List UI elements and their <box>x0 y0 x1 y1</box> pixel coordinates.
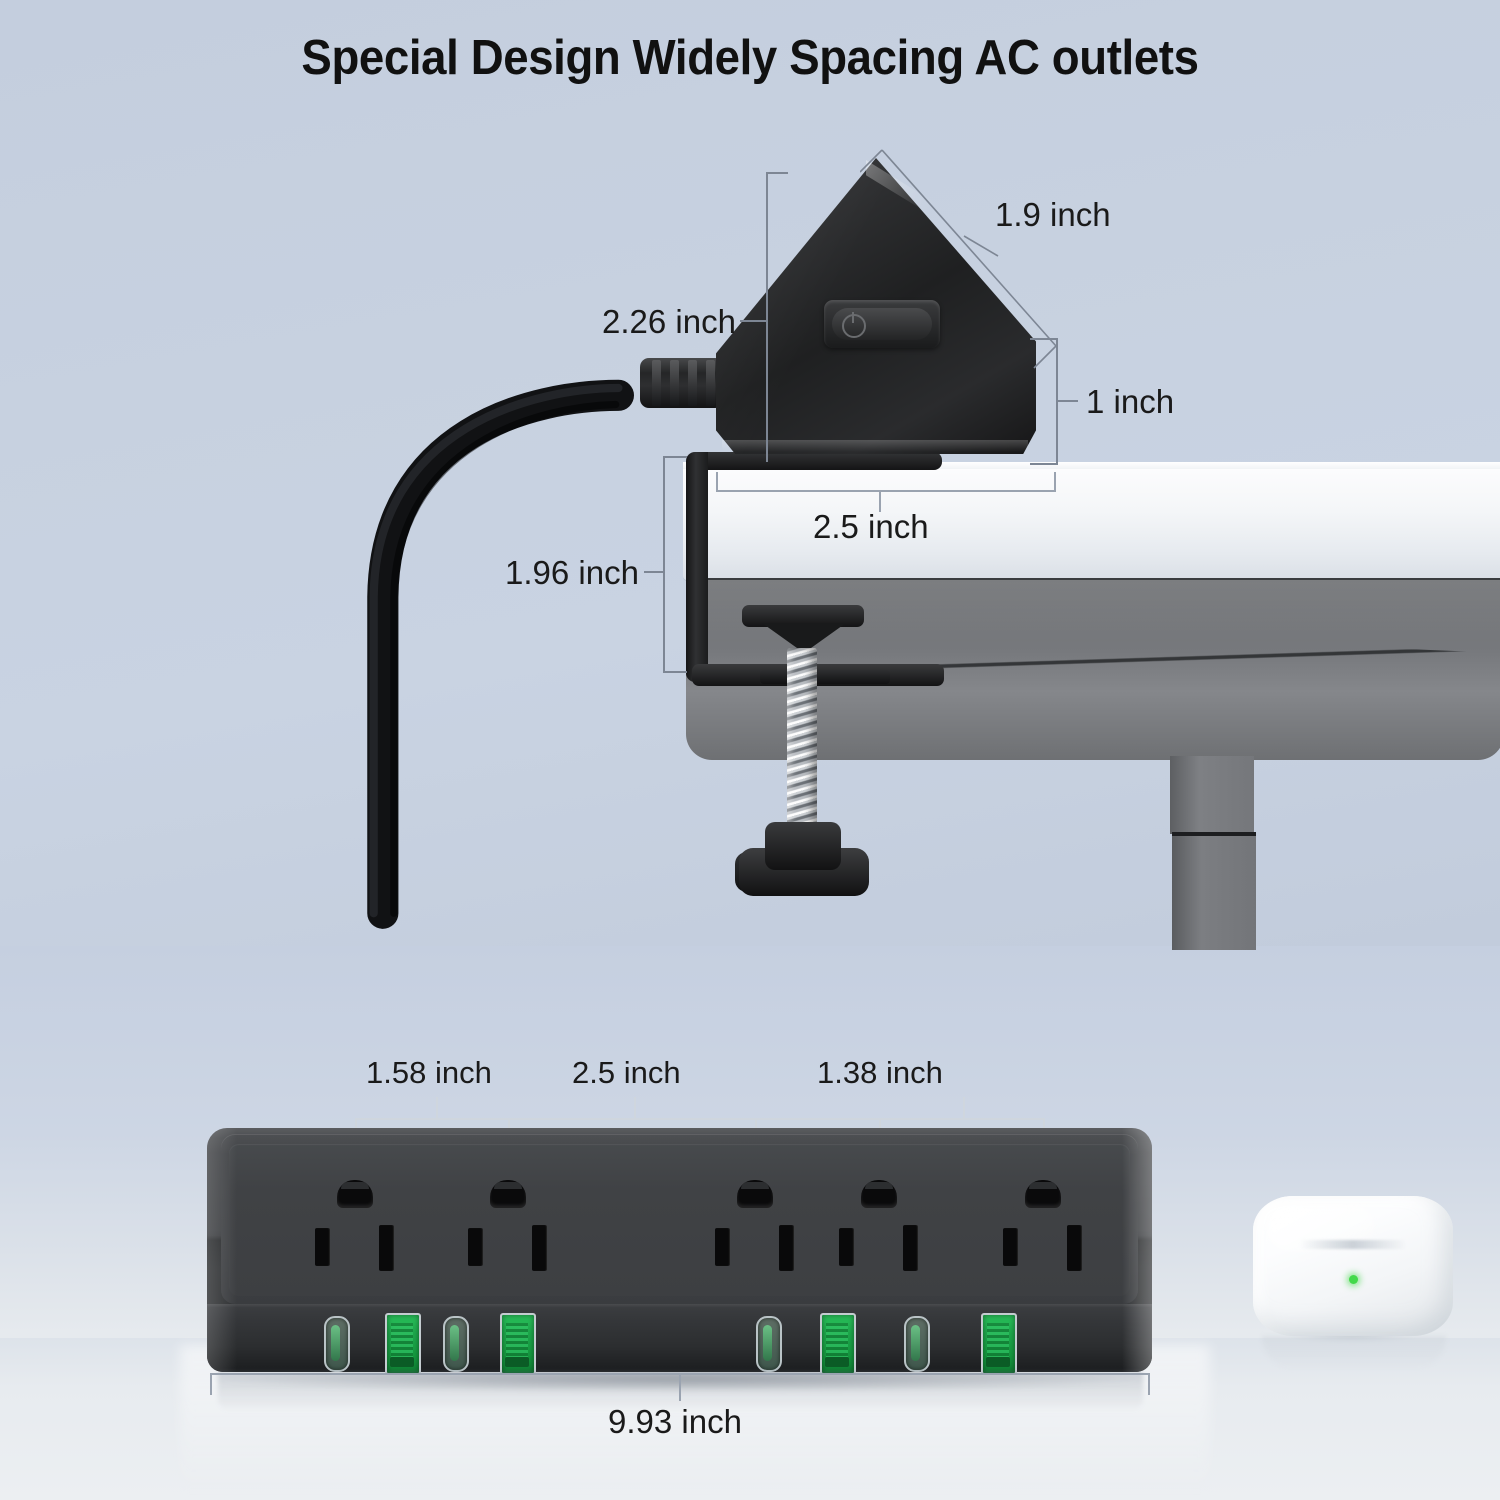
earbuds-status-led <box>1349 1275 1358 1284</box>
strain-relief-rib <box>652 360 661 406</box>
desk-leg-upper <box>1170 756 1254 834</box>
dimension-1.96-inch-tick-bottom <box>663 671 687 673</box>
usb-a-port[interactable] <box>820 1313 856 1375</box>
power-strip[interactable] <box>207 1128 1152 1372</box>
earbuds-case-lid-seam <box>1299 1240 1407 1249</box>
dimension-2.5-inch-tick-right <box>1054 472 1056 492</box>
dimension-9.93-inch-tick-right <box>1148 1373 1150 1395</box>
usb-a-port[interactable] <box>385 1313 421 1375</box>
spacing-3-tick <box>963 1097 965 1119</box>
strain-relief-rib <box>670 360 679 406</box>
ac-outlet[interactable] <box>991 1180 1095 1276</box>
earbuds-charging-case[interactable] <box>1253 1196 1453 1336</box>
outlet-slot-hot <box>903 1225 918 1271</box>
strip-right-highlight <box>1108 1128 1152 1372</box>
desk-leg-lower <box>1172 832 1256 950</box>
outlet-slot-neutral <box>715 1228 730 1266</box>
dimension-1-inch-tick-top <box>1030 338 1058 340</box>
dimension-1-inch-tick-bottom <box>1030 463 1058 465</box>
clamp-threaded-screw <box>787 648 817 832</box>
clamp-vertical-spine <box>686 452 708 682</box>
strain-relief-rib <box>706 360 715 406</box>
ac-outlet[interactable] <box>827 1180 931 1276</box>
strain-relief-rib <box>688 360 697 406</box>
usb-c-port[interactable] <box>443 1316 469 1372</box>
outlet-slot-hot <box>779 1225 794 1271</box>
dimension-2.26-inch-vline <box>766 172 768 462</box>
power-cable <box>348 352 678 952</box>
ac-outlet[interactable] <box>456 1180 560 1276</box>
ac-outlet[interactable] <box>703 1180 807 1276</box>
dimension-2.5-inch-hline <box>716 490 1056 492</box>
dimension-1.96-inch-label: 1.96 inch <box>505 554 639 592</box>
earbuds-case-reflection <box>1262 1336 1446 1370</box>
clamp-top-arm <box>692 452 942 470</box>
usb-a-port[interactable] <box>500 1313 536 1375</box>
outlet-ground-pin <box>337 1180 373 1208</box>
charger-bottom-highlight <box>722 440 1028 452</box>
dimension-1.58-inch-label: 1.58 inch <box>366 1055 492 1091</box>
ac-outlet[interactable] <box>303 1180 407 1276</box>
desk-top-surface <box>683 462 1500 580</box>
dimension-1-inch-leader <box>1056 400 1078 402</box>
dimension-2.26-inch-tick-top <box>766 172 788 174</box>
outlet-ground-pin <box>737 1180 773 1208</box>
dimension-1.9-inch-line <box>860 142 1120 372</box>
usb-c-port[interactable] <box>904 1316 930 1372</box>
spacing-2-tick <box>634 1097 636 1119</box>
outlet-slot-hot <box>379 1225 394 1271</box>
dimension-9.93-inch-tick-left <box>210 1373 212 1395</box>
usb-c-port[interactable] <box>324 1316 350 1372</box>
strip-left-highlight <box>207 1128 237 1372</box>
dimension-9.93-inch-leader <box>679 1373 681 1401</box>
dimension-1.96-inch-tick-top <box>663 456 687 458</box>
dimension-2.26-inch-leader <box>740 320 768 322</box>
dimension-2.26-inch-label: 2.26 inch <box>602 303 736 341</box>
dimension-2.5-inch-spacing-label: 2.5 inch <box>572 1055 681 1091</box>
outlet-ground-pin <box>861 1180 897 1208</box>
infographic-canvas: Special Design Widely Spacing AC outlets <box>0 0 1500 1500</box>
clamp-bottom-arm-inner <box>760 670 890 684</box>
clamp-thumb-knob-top <box>765 822 841 870</box>
outlet-ground-pin <box>1025 1180 1061 1208</box>
dimension-1.96-inch-vline <box>663 456 665 672</box>
outlet-slot-hot <box>1067 1225 1082 1271</box>
dimension-9.93-inch-label: 9.93 inch <box>608 1403 742 1441</box>
outlet-slot-neutral <box>1003 1228 1018 1266</box>
dimension-1.96-inch-leader <box>644 571 664 573</box>
spacing-bracket-rail <box>355 1118 1045 1120</box>
outlet-slot-neutral <box>839 1228 854 1266</box>
usb-c-port[interactable] <box>756 1316 782 1372</box>
dimension-2.5-inch-label: 2.5 inch <box>813 508 929 546</box>
dimension-1.9-inch-label: 1.9 inch <box>995 196 1111 234</box>
page-title: Special Design Widely Spacing AC outlets <box>53 30 1448 86</box>
spacing-1-tick <box>436 1097 438 1119</box>
outlet-slot-neutral <box>315 1228 330 1266</box>
dimension-2.5-inch-tick-left <box>716 472 718 492</box>
outlet-ground-pin <box>490 1180 526 1208</box>
dimension-1.38-inch-label: 1.38 inch <box>817 1055 943 1091</box>
dimension-1-inch-label: 1 inch <box>1086 383 1174 421</box>
outlet-slot-hot <box>532 1225 547 1271</box>
usb-a-port[interactable] <box>981 1313 1017 1375</box>
outlet-slot-neutral <box>468 1228 483 1266</box>
